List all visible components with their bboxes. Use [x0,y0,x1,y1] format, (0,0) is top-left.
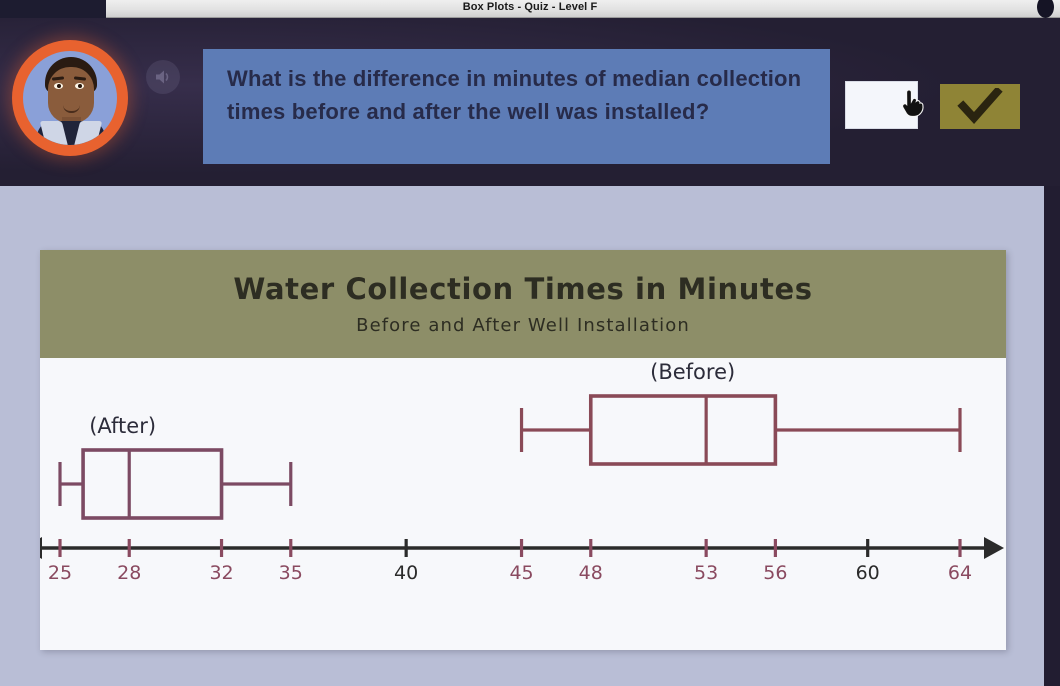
plot-area: (Before) (After) 2528323540454853566064 [40,358,1006,650]
quiz-screen: Box Plots - Quiz - Level F [0,0,1060,686]
submit-button[interactable] [940,84,1020,129]
axis-tick-label: 53 [694,562,718,584]
boxplot-after [60,450,291,518]
checkmark-icon [957,88,1003,126]
quiz-header-bar: What is the difference in minutes of med… [0,18,1060,186]
boxplot-before [522,396,960,464]
pointing-hand-cursor-icon [900,88,926,122]
right-edge-strip [1044,186,1060,686]
axis-tick-label: 60 [856,562,880,584]
axis-tick-label: 35 [279,562,303,584]
series-label-before: (Before) [650,360,735,384]
series-label-after: (After) [89,414,156,438]
axis-tick-label: 32 [209,562,233,584]
window-title: Box Plots - Quiz - Level F [0,1,1060,13]
question-text: What is the difference in minutes of med… [227,62,808,128]
axis-tick-label: 56 [763,562,787,584]
axis-tick-label: 40 [394,562,418,584]
chart-title: Water Collection Times in Minutes [40,272,1006,306]
axis-tick-label: 48 [579,562,603,584]
axis-tick-label: 64 [948,562,972,584]
avatar-pupil-left [57,84,61,88]
window-corner-dot-icon [1037,0,1054,18]
chart-card: Water Collection Times in Minutes Before… [40,250,1006,650]
chart-header-band: Water Collection Times in Minutes Before… [40,250,1006,358]
avatar-face [48,67,94,123]
axis-tick-label: 28 [117,562,141,584]
question-panel: What is the difference in minutes of med… [203,49,830,164]
window-titlebar: Box Plots - Quiz - Level F [0,0,1060,18]
avatar-portrait [23,51,117,145]
avatar-pupil-right [78,84,82,88]
axis-tick-label: 45 [509,562,533,584]
avatar [12,40,128,156]
boxplot-svg [40,358,1006,650]
axis-tick-label: 25 [48,562,72,584]
speaker-icon[interactable] [146,60,180,94]
chart-subtitle: Before and After Well Installation [40,315,1006,336]
page-body: Water Collection Times in Minutes Before… [0,186,1060,686]
